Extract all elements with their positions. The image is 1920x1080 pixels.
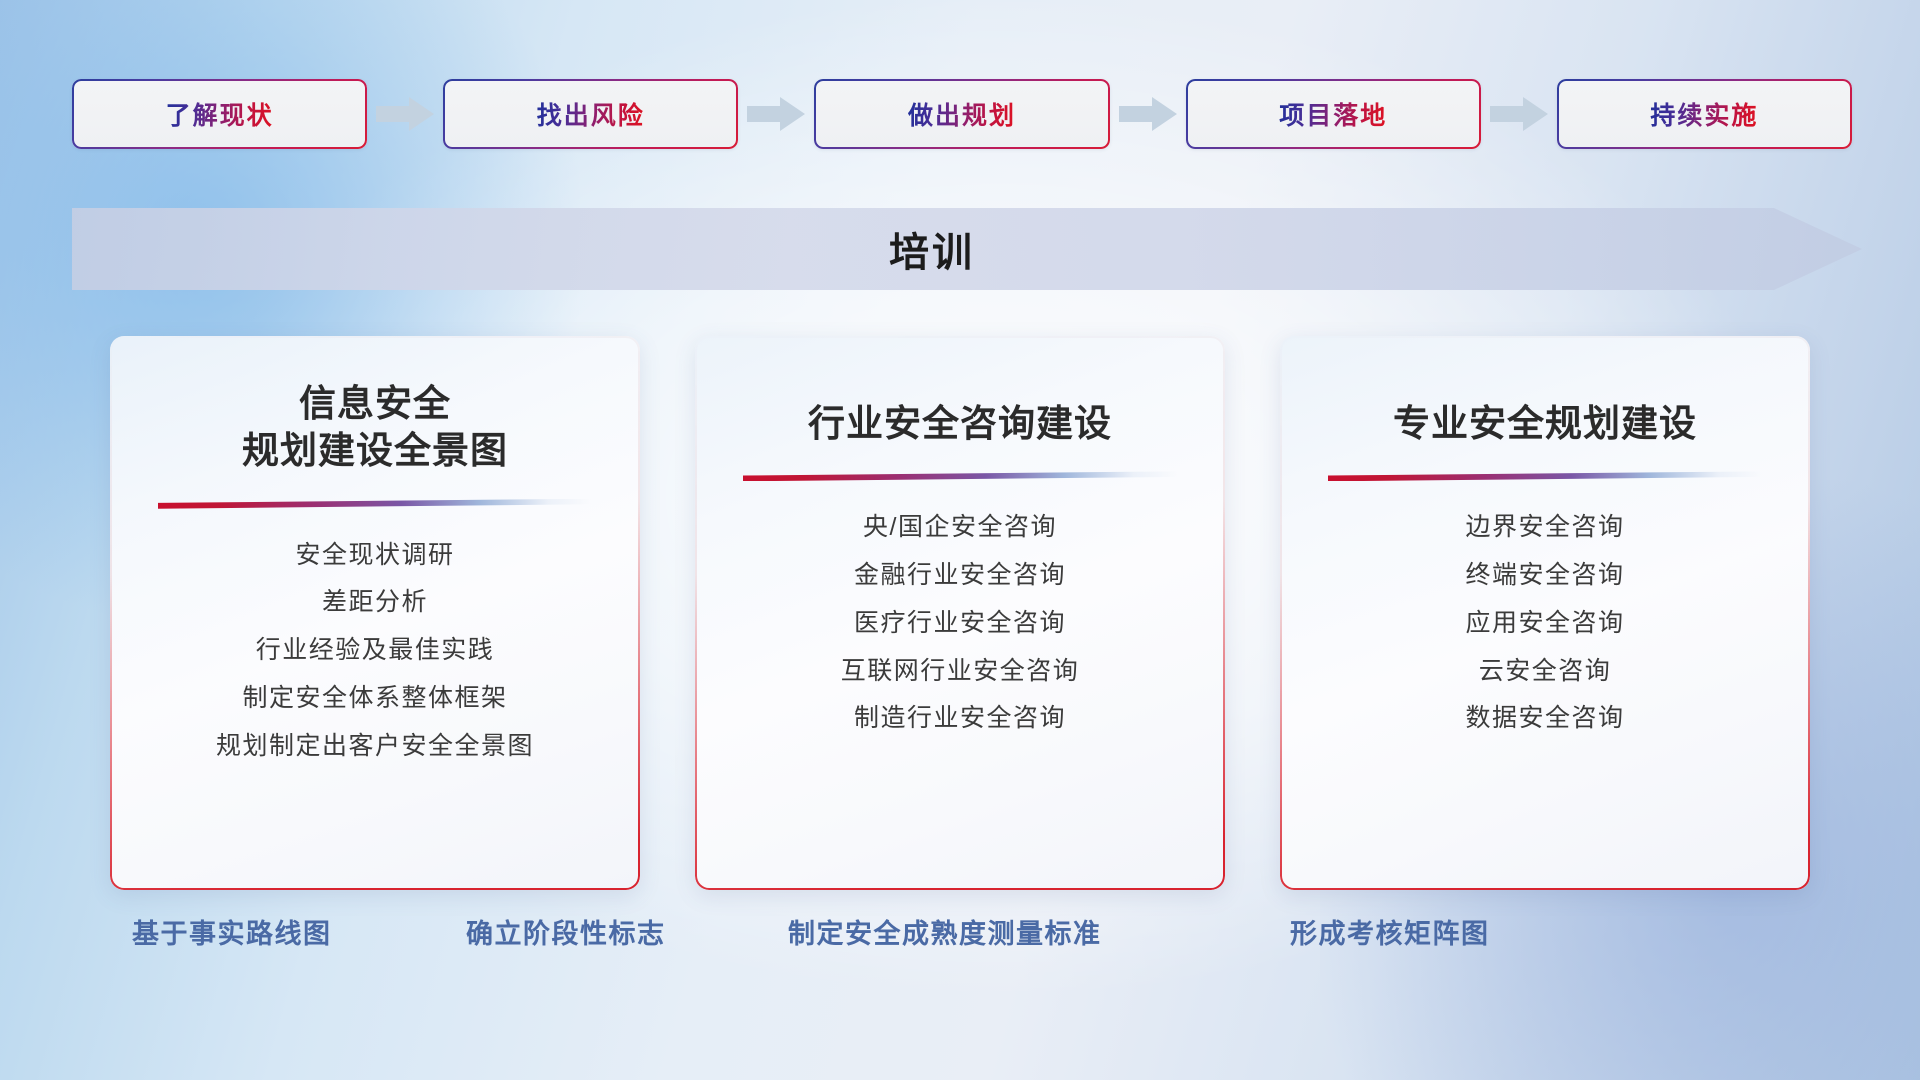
list-item: 制造行业安全咨询 [854, 702, 1066, 736]
arrow-right-icon [1118, 96, 1178, 132]
bottom-label-roadmap: 基于事实路线图 [132, 912, 332, 951]
step-label: 找出风险 [537, 96, 645, 132]
bottom-label-maturity-standard: 制定安全成熟度测量标准 [788, 912, 1102, 951]
list-item: 应用安全咨询 [1465, 607, 1624, 641]
training-banner: 培训 [72, 208, 1862, 290]
step-label: 持续实施 [1650, 96, 1758, 132]
list-item: 医疗行业安全咨询 [854, 607, 1066, 641]
list-item: 云安全咨询 [1479, 655, 1612, 689]
bottom-label-milestones: 确立阶段性标志 [466, 912, 666, 951]
card-title: 行业安全咨询建设 [784, 400, 1136, 447]
card-professional-security-planning[interactable]: 专业安全规划建设 边界安全咨询 终端安全咨询 应用安全咨询 云安全咨询 数据安全… [1280, 336, 1810, 890]
card-divider [1328, 471, 1763, 481]
arrow-right-icon [375, 96, 435, 132]
card-divider [743, 471, 1178, 481]
list-item: 金融行业安全咨询 [854, 559, 1066, 593]
divider-bar [743, 471, 1178, 481]
list-item: 制定安全体系整体框架 [242, 682, 507, 716]
step-box-3[interactable]: 做出规划 [814, 79, 1109, 149]
card-industry-security-consulting[interactable]: 行业安全咨询建设 央/国企安全咨询 金融行业安全咨询 医疗行业安全咨询 互联网行… [695, 336, 1225, 890]
bottom-label-assessment-matrix: 形成考核矩阵图 [1290, 912, 1490, 951]
card-item-list: 安全现状调研 差距分析 行业经验及最佳实践 制定安全体系整体框架 规划制定出客户… [110, 539, 640, 764]
card-title: 专业安全规划建设 [1369, 400, 1721, 447]
list-item: 数据安全咨询 [1465, 702, 1624, 736]
divider-bar [1328, 471, 1763, 481]
list-item: 边界安全咨询 [1465, 511, 1624, 545]
step-box-2[interactable]: 找出风险 [443, 79, 738, 149]
slide-canvas: 了解现状 找出风险 做出规划 项目落地 [0, 0, 1920, 1080]
step-label: 做出规划 [908, 96, 1016, 132]
card-divider [158, 499, 593, 509]
list-item: 规划制定出客户安全全景图 [216, 730, 534, 764]
list-item: 行业经验及最佳实践 [256, 634, 495, 668]
step-label: 项目落地 [1279, 96, 1387, 132]
process-steps-row: 了解现状 找出风险 做出规划 项目落地 [72, 78, 1852, 150]
list-item: 终端安全咨询 [1465, 559, 1624, 593]
cards-row: 信息安全 规划建设全景图 安全现状调研 差距分析 行业经验及最佳实践 制定安全体… [110, 336, 1810, 890]
arrow-right-icon [1489, 96, 1549, 132]
banner-title: 培训 [72, 208, 1862, 290]
list-item: 安全现状调研 [295, 539, 454, 573]
card-item-list: 边界安全咨询 终端安全咨询 应用安全咨询 云安全咨询 数据安全咨询 [1280, 511, 1810, 736]
divider-bar [158, 499, 593, 509]
card-title: 信息安全 规划建设全景图 [218, 380, 532, 475]
bottom-outcome-labels: 基于事实路线图 确立阶段性标志 制定安全成熟度测量标准 形成考核矩阵图 [0, 912, 1920, 960]
card-information-security-blueprint[interactable]: 信息安全 规划建设全景图 安全现状调研 差距分析 行业经验及最佳实践 制定安全体… [110, 336, 640, 890]
step-box-5[interactable]: 持续实施 [1557, 79, 1852, 149]
list-item: 互联网行业安全咨询 [841, 655, 1080, 689]
list-item: 差距分析 [322, 586, 428, 620]
step-box-1[interactable]: 了解现状 [72, 79, 367, 149]
arrow-right-icon [746, 96, 806, 132]
step-label: 了解现状 [166, 96, 274, 132]
step-box-4[interactable]: 项目落地 [1186, 79, 1481, 149]
list-item: 央/国企安全咨询 [863, 511, 1057, 545]
card-item-list: 央/国企安全咨询 金融行业安全咨询 医疗行业安全咨询 互联网行业安全咨询 制造行… [695, 511, 1225, 736]
